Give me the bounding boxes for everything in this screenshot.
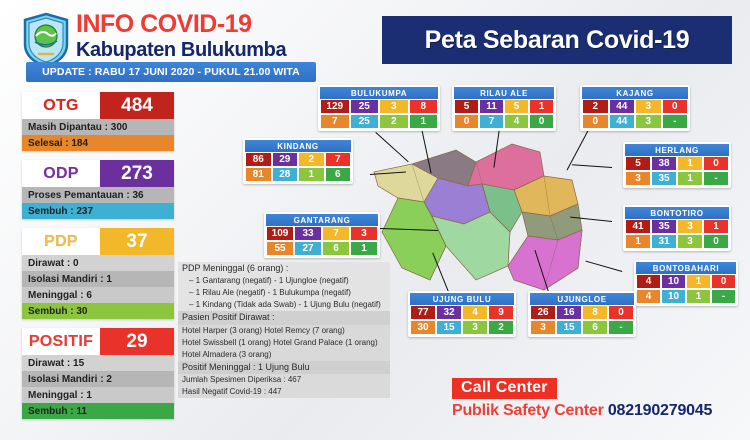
district-name: KINDANG [245, 140, 351, 152]
district-cell: 2 [298, 152, 325, 167]
note-text: Hotel Almadera (3 orang) [182, 350, 386, 360]
district-cell: 1 [677, 171, 703, 186]
stat-detail-label: Sembuh : 237 [28, 206, 93, 217]
district-cell: 8 [582, 305, 608, 320]
note-row: – 1 Kindang (Tidak ada Swab) - 1 Ujung B… [178, 299, 390, 311]
map-banner-text: Peta Sebaran Covid-19 [425, 26, 690, 55]
district-cell: 5 [454, 99, 479, 114]
bulukumba-regency-emblem-icon [22, 12, 70, 68]
district-cell: - [703, 171, 729, 186]
district-cell: 16 [556, 305, 582, 320]
district-bottom-row: 812816 [245, 167, 351, 182]
district-cell: 6 [582, 320, 608, 335]
district-cell: 7 [322, 226, 350, 241]
district-cell: 3 [625, 171, 651, 186]
stat-tag-label: POSITIF [29, 333, 93, 351]
stat-tag-label: PDP [44, 233, 78, 251]
call-center-block: Call Center Publik Safety Center 0821902… [452, 378, 712, 420]
stat-detail-row: Isolasi Mandiri : 2 [22, 371, 174, 387]
district-bottom-row: 0740 [454, 114, 554, 129]
district-box-herlang[interactable]: HERLANG538103351- [623, 142, 731, 188]
district-top-row: 773249 [410, 305, 514, 320]
district-top-row: 1093373 [266, 226, 378, 241]
note-text: Hasil Negatif Covid-19 : 447 [182, 387, 386, 397]
district-cell: 6 [322, 241, 350, 256]
call-center-phone[interactable]: 082190279045 [608, 402, 712, 419]
note-row: Hotel Almadera (3 orang) [178, 349, 390, 361]
district-cell: 1 [686, 289, 711, 304]
note-text: Jumlah Spesimen Diperiksa : 467 [182, 375, 386, 385]
note-row: Pasien Positif Dirawat : [178, 311, 390, 324]
district-box-bontotiro[interactable]: BONTOTIRO41353113130 [623, 205, 731, 251]
stat-detail-row: Dirawat : 0 [22, 255, 174, 271]
district-cell: 81 [245, 167, 272, 182]
stat-tag: PDP [22, 228, 100, 255]
district-cell: 44 [609, 99, 636, 114]
district-cell: 4 [504, 114, 529, 129]
stat-detail-label: Proses Pemantauan : 36 [28, 190, 144, 201]
stat-detail-label: Isolasi Mandiri : 1 [28, 274, 112, 285]
district-cell: 7 [479, 114, 504, 129]
stat-detail-label: Isolasi Mandiri : 2 [28, 374, 112, 385]
district-cell: 25 [350, 114, 380, 129]
district-box-kindang[interactable]: KINDANG862927812816 [243, 138, 353, 184]
stat-card-positif: POSITIF29Dirawat : 15Isolasi Mandiri : 2… [22, 328, 174, 419]
district-cell: 0 [582, 114, 609, 129]
district-cell: 1 [703, 219, 729, 234]
note-row: Hotel Harper (3 orang) Hotel Remcy (7 or… [178, 325, 390, 337]
district-cell: 3 [462, 320, 488, 335]
district-name: BULUKUMPA [320, 87, 438, 99]
psc-label: Publik Safety Center [452, 402, 604, 419]
district-cell: 11 [479, 99, 504, 114]
district-cell: 4 [462, 305, 488, 320]
district-cell: 15 [556, 320, 582, 335]
district-bottom-row: 0443- [582, 114, 688, 129]
note-row: Positif Meninggal : 1 Ujung Bulu [178, 361, 390, 374]
district-cell: 41 [625, 219, 651, 234]
district-cell: 26 [530, 305, 556, 320]
stat-detail-label: Meninggal : 6 [28, 290, 92, 301]
district-name: GANTARANG [266, 214, 378, 226]
district-cell: 25 [350, 99, 380, 114]
district-cell: 44 [609, 114, 636, 129]
district-cell: 1 [529, 99, 554, 114]
update-banner: UPDATE : RABU 17 JUNI 2020 - PUKUL 21.00… [26, 62, 316, 82]
stat-detail-label: Masih Dipantau : 300 [28, 122, 127, 133]
district-cell: 4 [636, 289, 661, 304]
district-top-row: 24430 [582, 99, 688, 114]
stat-detail-row: Sembuh : 30 [22, 303, 174, 319]
note-row: Hotel Swissbell (1 orang) Hotel Grand Pa… [178, 337, 390, 349]
district-cell: 9 [488, 305, 514, 320]
district-box-bontobahari[interactable]: BONTOBAHARI410104101- [634, 260, 738, 306]
district-cell: - [711, 289, 736, 304]
district-cell: 2 [582, 99, 609, 114]
district-name: HERLANG [625, 144, 729, 156]
district-top-row: 51151 [454, 99, 554, 114]
district-cell: 27 [294, 241, 322, 256]
district-cell: 0 [711, 274, 736, 289]
district-cell: 86 [245, 152, 272, 167]
district-cell: 10 [661, 274, 686, 289]
stat-value: 29 [100, 328, 174, 355]
stat-tag: OTG [22, 92, 100, 119]
district-name: BONTOTIRO [625, 207, 729, 219]
district-cell: 30 [410, 320, 436, 335]
infographic-canvas: INFO COVID-19 Kabupaten Bulukumba UPDATE… [0, 0, 750, 440]
district-cell: 8 [409, 99, 439, 114]
district-cell: 1 [409, 114, 439, 129]
stat-detail-row: Meninggal : 1 [22, 387, 174, 403]
stat-value: 484 [100, 92, 174, 119]
district-cell: 3 [379, 99, 409, 114]
district-top-row: 261680 [530, 305, 634, 320]
district-name: UJUNGLOE [530, 293, 634, 305]
update-text: UPDATE : RABU 17 JUNI 2020 - PUKUL 21.00… [42, 66, 300, 78]
district-cell: - [608, 320, 634, 335]
stat-tag: POSITIF [22, 328, 100, 355]
stat-value-text: 37 [126, 231, 147, 253]
note-row: Jumlah Spesimen Diperiksa : 467 [178, 374, 390, 386]
stat-detail-row: Masih Dipantau : 300 [22, 119, 174, 135]
district-cell: 3 [350, 226, 378, 241]
district-bottom-row: 13130 [625, 234, 729, 249]
district-bottom-row: 301532 [410, 320, 514, 335]
district-cell: 1 [625, 234, 651, 249]
district-cell: 0 [703, 234, 729, 249]
stat-detail-row: Sembuh : 237 [22, 203, 174, 219]
district-box-kajang[interactable]: KAJANG244300443- [580, 85, 690, 131]
statistics-panel: OTG484Masih Dipantau : 300Selesai : 184O… [22, 92, 174, 428]
stat-detail-row: Meninggal : 6 [22, 287, 174, 303]
district-cell: 109 [266, 226, 294, 241]
stat-card-header: ODP273 [22, 160, 174, 187]
district-cell: 3 [677, 219, 703, 234]
stat-tag: ODP [22, 160, 100, 187]
stat-card-otg: OTG484Masih Dipantau : 300Selesai : 184 [22, 92, 174, 151]
district-cell: 0 [608, 305, 634, 320]
district-name: RILAU ALE [454, 87, 554, 99]
district-cell: 3 [677, 234, 703, 249]
district-name: KAJANG [582, 87, 688, 99]
stat-value-text: 29 [126, 331, 147, 353]
district-cell: 3 [530, 320, 556, 335]
call-center-line: Publik Safety Center 082190279045 [452, 402, 712, 420]
stat-value: 273 [100, 160, 174, 187]
note-row: PDP Meninggal (6 orang) : [178, 262, 390, 275]
district-bottom-row: 3351- [625, 171, 729, 186]
district-cell: 7 [320, 114, 350, 129]
stat-detail-label: Dirawat : 15 [28, 358, 84, 369]
stat-value-text: 484 [121, 95, 153, 117]
note-text: Hotel Harper (3 orang) Hotel Remcy (7 or… [182, 326, 386, 336]
stat-card-header: OTG484 [22, 92, 174, 119]
district-bottom-row: 3156- [530, 320, 634, 335]
stat-detail-label: Sembuh : 11 [28, 406, 87, 417]
district-box-ujungloe[interactable]: UJUNGLOE2616803156- [528, 291, 636, 337]
district-cell: 15 [436, 320, 462, 335]
district-name: UJUNG BULU [410, 293, 514, 305]
stat-card-header: POSITIF29 [22, 328, 174, 355]
district-cell: 10 [661, 289, 686, 304]
stat-detail-row: Dirawat : 15 [22, 355, 174, 371]
district-cell: - [662, 114, 689, 129]
stat-detail-row: Sembuh : 11 [22, 403, 174, 419]
note-text: Positif Meninggal : 1 Ujung Bulu [182, 362, 386, 373]
district-cell: 31 [651, 234, 677, 249]
note-text: – 1 Rilau Ale (negatif) - 1 Bulukumpa (n… [182, 288, 386, 298]
district-cell: 55 [266, 241, 294, 256]
district-cell: 29 [272, 152, 299, 167]
district-cell: 1 [686, 274, 711, 289]
note-text: PDP Meninggal (6 orang) : [182, 263, 386, 274]
district-top-row: 862927 [245, 152, 351, 167]
stat-detail-row: Proses Pemantauan : 36 [22, 187, 174, 203]
district-box-gantarang[interactable]: GANTARANG1093373552761 [264, 212, 380, 258]
stat-tag-label: OTG [43, 97, 79, 115]
district-box-rilau-ale[interactable]: RILAU ALE511510740 [452, 85, 556, 131]
note-row: – 1 Gantarang (negatif) - 1 Ujungloe (ne… [178, 275, 390, 287]
district-cell: 2 [379, 114, 409, 129]
map-banner: Peta Sebaran Covid-19 [382, 16, 732, 64]
district-bottom-row: 4101- [636, 289, 736, 304]
stat-card-odp: ODP273Proses Pemantauan : 36Sembuh : 237 [22, 160, 174, 219]
district-cell: 6 [325, 167, 352, 182]
district-cell: 38 [651, 156, 677, 171]
stat-card-header: PDP37 [22, 228, 174, 255]
district-cell: 0 [662, 99, 689, 114]
district-cell: 3 [635, 114, 662, 129]
stat-value-text: 273 [121, 163, 153, 185]
district-cell: 0 [529, 114, 554, 129]
district-cell: 1 [677, 156, 703, 171]
note-text: – 1 Gantarang (negatif) - 1 Ujungloe (ne… [182, 276, 386, 286]
note-text: Pasien Positif Dirawat : [182, 312, 386, 323]
note-text: Hotel Swissbell (1 orang) Hotel Grand Pa… [182, 338, 386, 348]
district-cell: 28 [272, 167, 299, 182]
district-top-row: 1292538 [320, 99, 438, 114]
district-cell: 5 [504, 99, 529, 114]
district-box-bulukumpa[interactable]: BULUKUMPA129253872521 [318, 85, 440, 131]
stat-detail-row: Selesai : 184 [22, 135, 174, 151]
district-cell: 33 [294, 226, 322, 241]
notes-panel: PDP Meninggal (6 orang) :– 1 Gantarang (… [178, 262, 390, 398]
page-title: INFO COVID-19 Kabupaten Bulukumba [76, 12, 286, 61]
title-info-covid: INFO COVID-19 [76, 12, 286, 37]
district-cell: 1 [298, 167, 325, 182]
stat-card-pdp: PDP37Dirawat : 0Isolasi Mandiri : 1Menin… [22, 228, 174, 319]
stat-value: 37 [100, 228, 174, 255]
district-name: BONTOBAHARI [636, 262, 736, 274]
district-cell: 0 [703, 156, 729, 171]
stat-detail-label: Dirawat : 0 [28, 258, 79, 269]
district-cell: 129 [320, 99, 350, 114]
district-cell: 0 [454, 114, 479, 129]
district-bottom-row: 72521 [320, 114, 438, 129]
district-cell: 7 [325, 152, 352, 167]
stat-detail-label: Selesai : 184 [28, 138, 88, 149]
district-cell: 35 [651, 219, 677, 234]
note-row: – 1 Rilau Ale (negatif) - 1 Bulukumpa (n… [178, 287, 390, 299]
call-center-badge: Call Center [452, 378, 557, 399]
district-cell: 35 [651, 171, 677, 186]
title-kabupaten: Kabupaten Bulukumba [76, 39, 286, 61]
district-cell: 4 [636, 274, 661, 289]
district-cell: 5 [625, 156, 651, 171]
stat-detail-label: Meninggal : 1 [28, 390, 92, 401]
note-row: Hasil Negatif Covid-19 : 447 [178, 386, 390, 398]
stat-detail-label: Sembuh : 30 [28, 306, 87, 317]
note-text: – 1 Kindang (Tidak ada Swab) - 1 Ujung B… [182, 300, 386, 310]
district-bottom-row: 552761 [266, 241, 378, 256]
district-top-row: 41010 [636, 274, 736, 289]
district-cell: 32 [436, 305, 462, 320]
stat-detail-row: Isolasi Mandiri : 1 [22, 271, 174, 287]
district-top-row: 53810 [625, 156, 729, 171]
district-box-ujung-bulu[interactable]: UJUNG BULU773249301532 [408, 291, 516, 337]
stat-tag-label: ODP [43, 165, 79, 183]
district-cell: 1 [350, 241, 378, 256]
district-cell: 2 [488, 320, 514, 335]
district-top-row: 413531 [625, 219, 729, 234]
district-cell: 77 [410, 305, 436, 320]
district-cell: 3 [635, 99, 662, 114]
